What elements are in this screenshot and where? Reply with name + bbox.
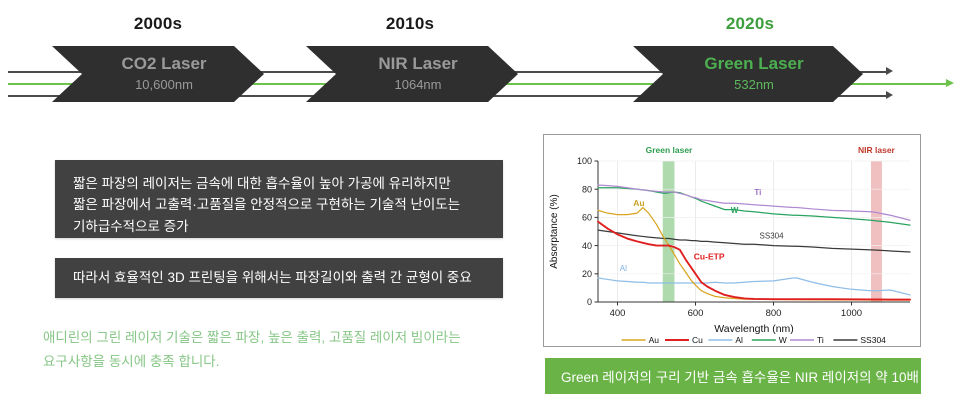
chevron-title-green: Green Laser bbox=[704, 54, 803, 74]
chevron-wavelength-green: 532nm bbox=[734, 76, 774, 94]
callout1-line3: 기하급수적으로 증가 bbox=[73, 216, 485, 237]
band-nir-laser bbox=[871, 161, 882, 302]
era-label-2000s: 2000s bbox=[98, 14, 218, 34]
green-paragraph-line2: 요구사항을 동시에 충족 합니다. bbox=[43, 350, 523, 374]
green-paragraph-line1: 애디린의 그린 레이저 기술은 짧은 파장, 높은 출력, 고품질 레이저 빔이… bbox=[43, 326, 523, 350]
legend-label-al: Al bbox=[735, 335, 743, 345]
curve-label-ti: Ti bbox=[754, 188, 761, 197]
chevron-green-laser[interactable]: Green Laser 532nm bbox=[633, 46, 863, 102]
curve-label-au: Au bbox=[633, 198, 644, 208]
era-label-2020s: 2020s bbox=[690, 14, 810, 34]
legend-label-w: W bbox=[779, 335, 787, 345]
series-line-au bbox=[598, 208, 910, 301]
era-label-2010s: 2010s bbox=[350, 14, 470, 34]
series-line-al bbox=[598, 278, 910, 295]
chevron-wavelength-nir: 1064nm bbox=[395, 76, 442, 94]
y-tick-label: 40 bbox=[582, 241, 592, 251]
y-tick-label: 60 bbox=[582, 213, 592, 223]
curve-label-al: Al bbox=[620, 264, 627, 273]
x-tick-label: 1000 bbox=[841, 308, 862, 319]
legend-label-au: Au bbox=[649, 335, 660, 345]
series-line-ss304 bbox=[598, 230, 910, 252]
chevron-title-co2: CO2 Laser bbox=[121, 54, 206, 74]
callout-box-balance-conclusion: 따라서 효율적인 3D 프린팅을 위해서는 파장길이와 출력 간 균형이 중요 bbox=[55, 258, 503, 298]
absorptance-chart-panel: Green laserNIR laser02040608010040060080… bbox=[543, 134, 921, 347]
series-line-cu bbox=[598, 222, 910, 300]
laser-evolution-timeline: 2000s 2010s 2020s CO2 Laser 10,600nm NIR… bbox=[0, 0, 966, 125]
green-banner-text: Green 레이저의 구리 기반 금속 흡수율은 NIR 레이저의 약 10배 bbox=[561, 366, 919, 386]
x-tick-label: 800 bbox=[766, 308, 782, 319]
arrowhead-top-icon bbox=[886, 67, 893, 75]
green-result-banner: Green 레이저의 구리 기반 금속 흡수율은 NIR 레이저의 약 10배 bbox=[545, 358, 921, 394]
y-tick-label: 0 bbox=[587, 297, 592, 307]
y-tick-label: 20 bbox=[582, 269, 592, 279]
curve-label-ss304: SS304 bbox=[760, 232, 785, 241]
callout-box-wavelength-tradeoff: 짧은 파장의 레이저는 금속에 대한 흡수율이 높아 가공에 유리하지만 짧은 … bbox=[55, 160, 503, 238]
legend-label-cu: Cu bbox=[692, 335, 703, 345]
x-tick-label: 400 bbox=[610, 308, 626, 319]
absorptance-vs-wavelength-chart: Green laserNIR laser02040608010040060080… bbox=[544, 135, 920, 346]
band-label-nir-laser: NIR laser bbox=[858, 145, 896, 155]
arrowhead-green-icon bbox=[946, 79, 954, 87]
y-axis-label: Absorptance (%) bbox=[549, 194, 560, 268]
chevron-title-nir: NIR Laser bbox=[378, 54, 457, 74]
chevron-wavelength-co2: 10,600nm bbox=[135, 76, 193, 94]
curve-label-w: W bbox=[731, 206, 739, 215]
legend-label-ss304: SS304 bbox=[860, 335, 886, 345]
arrowhead-bottom-icon bbox=[886, 91, 893, 99]
callout1-line1: 짧은 파장의 레이저는 금속에 대한 흡수율이 높아 가공에 유리하지만 bbox=[73, 173, 485, 194]
y-tick-label: 80 bbox=[582, 184, 592, 194]
x-tick-label: 600 bbox=[688, 308, 704, 319]
callout2-line1: 따라서 효율적인 3D 프린팅을 위해서는 파장길이와 출력 간 균형이 중요 bbox=[73, 267, 472, 288]
legend-label-ti: Ti bbox=[817, 335, 824, 345]
band-label-green-laser: Green laser bbox=[646, 145, 693, 155]
chevron-nir-laser[interactable]: NIR Laser 1064nm bbox=[306, 46, 518, 102]
callout1-line2: 짧은 파장에서 고출력·고품질을 안정적으로 구현하는 기술적 난이도는 bbox=[73, 194, 485, 215]
slide-canvas: 2000s 2010s 2020s CO2 Laser 10,600nm NIR… bbox=[0, 0, 966, 411]
x-axis-label: Wavelength (nm) bbox=[714, 323, 794, 335]
chevron-co2-laser[interactable]: CO2 Laser 10,600nm bbox=[52, 46, 264, 102]
curve-label-cu-etp: Cu-ETP bbox=[694, 252, 725, 262]
y-tick-label: 100 bbox=[577, 156, 592, 166]
band-green-laser bbox=[663, 161, 675, 302]
green-summary-paragraph: 애디린의 그린 레이저 기술은 짧은 파장, 높은 출력, 고품질 레이저 빔이… bbox=[43, 326, 523, 373]
